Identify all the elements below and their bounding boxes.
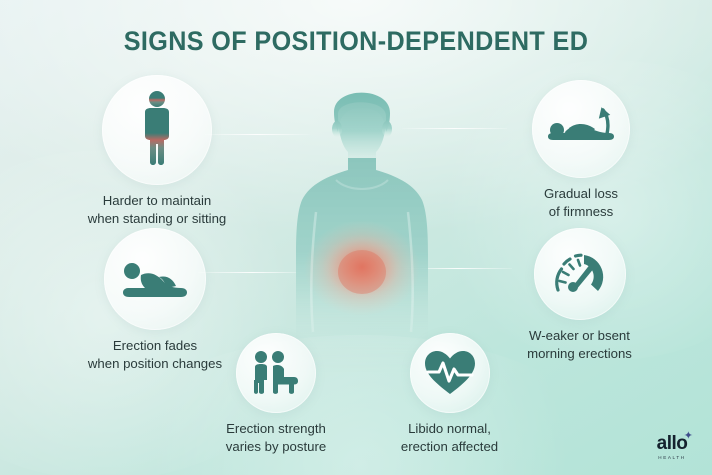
sign-item-morning[interactable]: W-eaker or bsent morning erections: [482, 228, 677, 362]
allo-health-logo[interactable]: ✦ allo HEALTH: [646, 432, 698, 462]
heart-pulse-icon: [410, 333, 490, 413]
sign-caption-libido: Libido normal, erection affected: [401, 420, 498, 455]
logo-wordmark: allo: [657, 434, 688, 453]
sign-item-posture[interactable]: Erection strength varies by posture: [196, 333, 356, 455]
sign-caption-posture: Erection strength varies by posture: [226, 420, 326, 455]
sign-item-standing[interactable]: Harder to maintain when standing or sitt…: [57, 75, 257, 227]
logo-subtext: HEALTH: [658, 455, 685, 460]
sign-caption-standing: Harder to maintain when standing or sitt…: [88, 192, 227, 227]
infographic-canvas: SIGNS OF POSITION-DEPENDENT ED: [0, 0, 712, 475]
lying-person-arrow-icon: [532, 80, 630, 178]
reclining-person-icon: [104, 228, 206, 330]
sign-caption-morning: W-eaker or bsent morning erections: [527, 327, 632, 362]
page-title: SIGNS OF POSITION-DEPENDENT ED: [18, 26, 694, 57]
sparkle-icon: ✦: [684, 431, 693, 442]
two-people-posture-icon: [236, 333, 316, 413]
sign-caption-gradual: Gradual loss of firmness: [544, 185, 618, 220]
standing-person-icon: [102, 75, 212, 185]
gauge-meter-icon: [534, 228, 626, 320]
pelvic-pain-glow: [304, 220, 420, 316]
sign-item-gradual[interactable]: Gradual loss of firmness: [486, 80, 676, 220]
